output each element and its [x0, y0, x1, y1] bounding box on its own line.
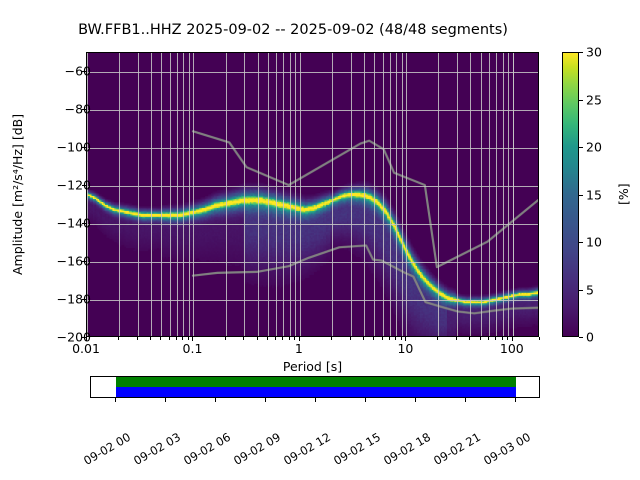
timeline-tick-mark	[315, 398, 316, 402]
colorbar	[562, 52, 579, 337]
x-axis-tick-mark	[182, 337, 183, 340]
x-axis-tick-mark	[456, 337, 457, 340]
timeline-tick-label: 09-02 15	[331, 430, 383, 468]
grid-line-vertical	[189, 53, 190, 336]
grid-line-vertical	[226, 53, 227, 336]
grid-line-horizontal	[87, 262, 538, 263]
x-axis-tick-mark	[169, 337, 170, 340]
grid-line-horizontal	[87, 148, 538, 149]
colorbar-tick-mark	[579, 52, 583, 53]
y-axis-tick-mark	[82, 147, 86, 148]
grid-line-vertical	[513, 53, 514, 336]
timeline-tick-label: 09-03 00	[481, 430, 533, 468]
coverage-segment-lower	[116, 387, 517, 397]
grid-line-horizontal	[87, 186, 538, 187]
x-axis-tick-mark	[507, 337, 508, 340]
timeline-tick-mark	[515, 398, 516, 402]
page-title: BW.FFB1..HHZ 2025-09-02 -- 2025-09-02 (4…	[0, 22, 586, 38]
x-axis-tick-mark	[350, 337, 351, 340]
x-axis-tick-mark	[257, 337, 258, 340]
grid-line-vertical	[383, 53, 384, 336]
timeline-tick-label: 09-02 03	[131, 430, 183, 468]
grid-line-vertical	[481, 53, 482, 336]
grid-line-vertical	[258, 53, 259, 336]
x-axis-tick-label: 0.01	[72, 341, 100, 356]
grid-line-vertical	[396, 53, 397, 336]
x-axis-tick-mark	[502, 337, 503, 340]
y-axis-tick-mark	[82, 299, 86, 300]
x-axis-tick-mark	[469, 337, 470, 340]
timeline-tick-mark	[215, 398, 216, 402]
x-axis-tick-mark	[331, 337, 332, 340]
timeline-tick-mark	[365, 398, 366, 402]
colorbar-tick-label: 25	[586, 92, 602, 107]
x-axis-tick-mark	[160, 337, 161, 340]
x-axis-tick-mark	[289, 337, 290, 340]
grid-line-vertical	[170, 53, 171, 336]
timeline-tick-label: 09-02 09	[231, 430, 283, 468]
y-axis-tick-mark	[82, 71, 86, 72]
x-axis-tick-mark	[150, 337, 151, 340]
colorbar-tick-label: 0	[586, 330, 594, 345]
grid-line-vertical	[244, 53, 245, 336]
x-axis-tick-label: 100	[500, 341, 524, 356]
data-coverage-bar[interactable]	[90, 376, 540, 398]
grid-line-vertical	[457, 53, 458, 336]
grid-line-vertical	[300, 53, 301, 336]
colorbar-tick-label: 20	[586, 140, 602, 155]
grid-line-horizontal	[87, 72, 538, 73]
timeline-tick-mark	[465, 398, 466, 402]
y-axis-label: Amplitude [m²/s⁴/Hz] [dB]	[10, 114, 25, 275]
colorbar-tick-mark	[579, 195, 583, 196]
x-axis-tick-mark	[401, 337, 402, 340]
x-axis-tick-mark	[495, 337, 496, 340]
grid-line-vertical	[119, 53, 120, 336]
x-axis-tick-mark	[437, 337, 438, 340]
y-axis-tick-mark	[82, 223, 86, 224]
grid-line-vertical	[438, 53, 439, 336]
colorbar-label: [%]	[616, 183, 631, 205]
timeline-tick-mark	[415, 398, 416, 402]
x-axis-tick-mark	[373, 337, 374, 340]
x-axis-tick-mark	[137, 337, 138, 340]
y-axis-tick-label: −60	[65, 64, 91, 79]
x-axis-tick-label: 10	[397, 341, 413, 356]
grid-line-vertical	[496, 53, 497, 336]
ppsd-plot-area[interactable]	[86, 52, 539, 337]
grid-line-vertical	[364, 53, 365, 336]
timeline-tick-label: 09-02 21	[431, 430, 483, 468]
grid-lines	[87, 53, 538, 336]
timeline-tick-label: 09-02 12	[281, 430, 333, 468]
x-axis-tick-mark	[275, 337, 276, 340]
colorbar-tick-mark	[579, 290, 583, 291]
colorbar-tick-label: 5	[586, 282, 594, 297]
grid-line-vertical	[283, 53, 284, 336]
grid-line-horizontal	[87, 300, 538, 301]
grid-line-vertical	[295, 53, 296, 336]
x-axis-tick-mark	[118, 337, 119, 340]
colorbar-tick-label: 10	[586, 235, 602, 250]
grid-line-vertical	[268, 53, 269, 336]
x-axis-tick-mark	[382, 337, 383, 340]
x-axis-label: Period [s]	[86, 359, 539, 374]
grid-line-vertical	[290, 53, 291, 336]
grid-line-vertical	[406, 53, 407, 336]
grid-line-vertical	[374, 53, 375, 336]
y-axis-tick-mark	[82, 261, 86, 262]
grid-line-vertical	[470, 53, 471, 336]
y-axis-tick-mark	[82, 185, 86, 186]
y-axis-tick-label: −80	[65, 102, 91, 117]
timeline-tick-mark	[165, 398, 166, 402]
x-axis-tick-mark	[243, 337, 244, 340]
coverage-segment-upper	[116, 377, 517, 387]
x-axis-tick-mark	[282, 337, 283, 340]
x-axis-tick-mark	[225, 337, 226, 340]
timeline-tick-mark	[265, 398, 266, 402]
x-axis-tick-label: 1	[295, 341, 303, 356]
x-axis-tick-mark	[188, 337, 189, 340]
x-axis-tick-mark	[480, 337, 481, 340]
colorbar-tick-mark	[579, 147, 583, 148]
timeline-tick-label: 09-02 18	[381, 430, 433, 468]
grid-line-vertical	[177, 53, 178, 336]
grid-line-vertical	[489, 53, 490, 336]
x-axis-tick-mark	[176, 337, 177, 340]
grid-line-vertical	[351, 53, 352, 336]
x-axis-tick-mark	[389, 337, 390, 340]
colorbar-tick-mark	[579, 242, 583, 243]
grid-line-vertical	[508, 53, 509, 336]
x-axis-tick-mark	[539, 337, 540, 340]
colorbar-tick-label: 15	[586, 187, 602, 202]
grid-line-vertical	[503, 53, 504, 336]
grid-line-horizontal	[87, 110, 538, 111]
x-axis-tick-mark	[488, 337, 489, 340]
grid-line-vertical	[183, 53, 184, 336]
timeline-tick-label: 09-02 00	[81, 430, 133, 468]
grid-line-vertical	[332, 53, 333, 336]
grid-line-vertical	[402, 53, 403, 336]
y-axis-tick-mark	[82, 109, 86, 110]
colorbar-tick-mark	[579, 100, 583, 101]
x-axis-tick-label: 0.1	[183, 341, 203, 356]
timeline-tick-mark	[115, 398, 116, 402]
grid-line-vertical	[151, 53, 152, 336]
grid-line-vertical	[138, 53, 139, 336]
colorbar-tick-mark	[579, 337, 583, 338]
grid-line-vertical	[276, 53, 277, 336]
grid-line-horizontal	[87, 224, 538, 225]
x-axis-tick-mark	[363, 337, 364, 340]
x-axis-tick-mark	[395, 337, 396, 340]
grid-line-vertical	[390, 53, 391, 336]
grid-line-vertical	[161, 53, 162, 336]
grid-line-vertical	[193, 53, 194, 336]
x-axis-tick-mark	[267, 337, 268, 340]
colorbar-tick-label: 30	[586, 45, 602, 60]
x-axis-tick-mark	[294, 337, 295, 340]
timeline-tick-label: 09-02 06	[181, 430, 233, 468]
